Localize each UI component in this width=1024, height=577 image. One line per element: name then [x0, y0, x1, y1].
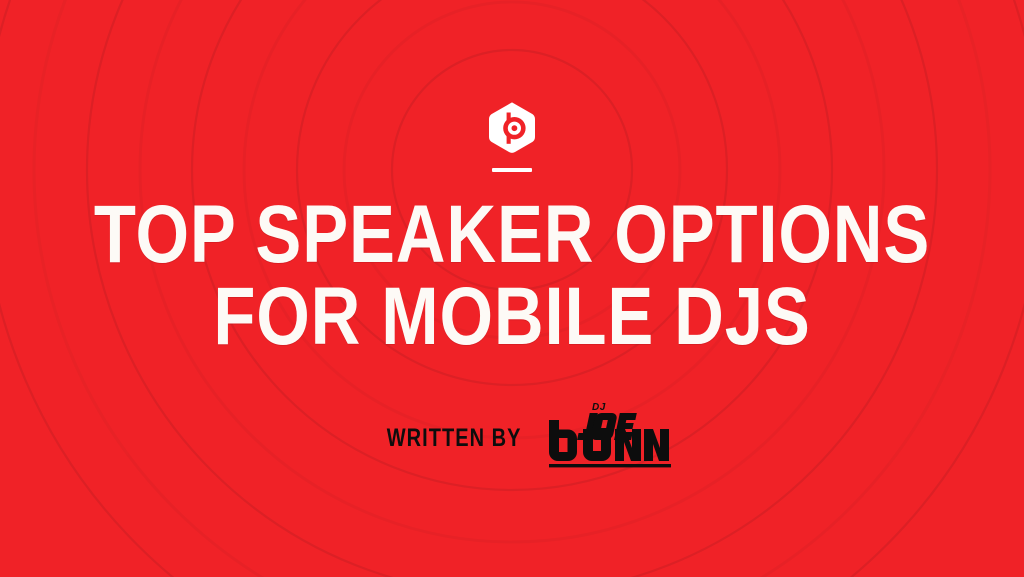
page-title-line-1: TOP SPEAKER OPTIONS [82, 192, 942, 278]
dj-joe-bunn-logo-icon[interactable]: DJ [545, 398, 671, 470]
title-divider-rule [492, 168, 532, 172]
page-title-line-2: FOR MOBILE DJS [82, 274, 942, 360]
accessible-title: Top Speaker Options For Mobile DJs — Wri… [0, 0, 1, 1]
byline: WRITTEN BY DJ [0, 398, 1024, 460]
beats-hexagon-logo-icon [485, 101, 539, 155]
poster-canvas: TOP SPEAKER OPTIONS FOR MOBILE DJS WRITT… [0, 0, 1024, 577]
written-by-label: WRITTEN BY [386, 424, 521, 460]
page-title: TOP SPEAKER OPTIONS FOR MOBILE DJS [82, 192, 942, 360]
svg-text:DJ: DJ [592, 402, 606, 413]
